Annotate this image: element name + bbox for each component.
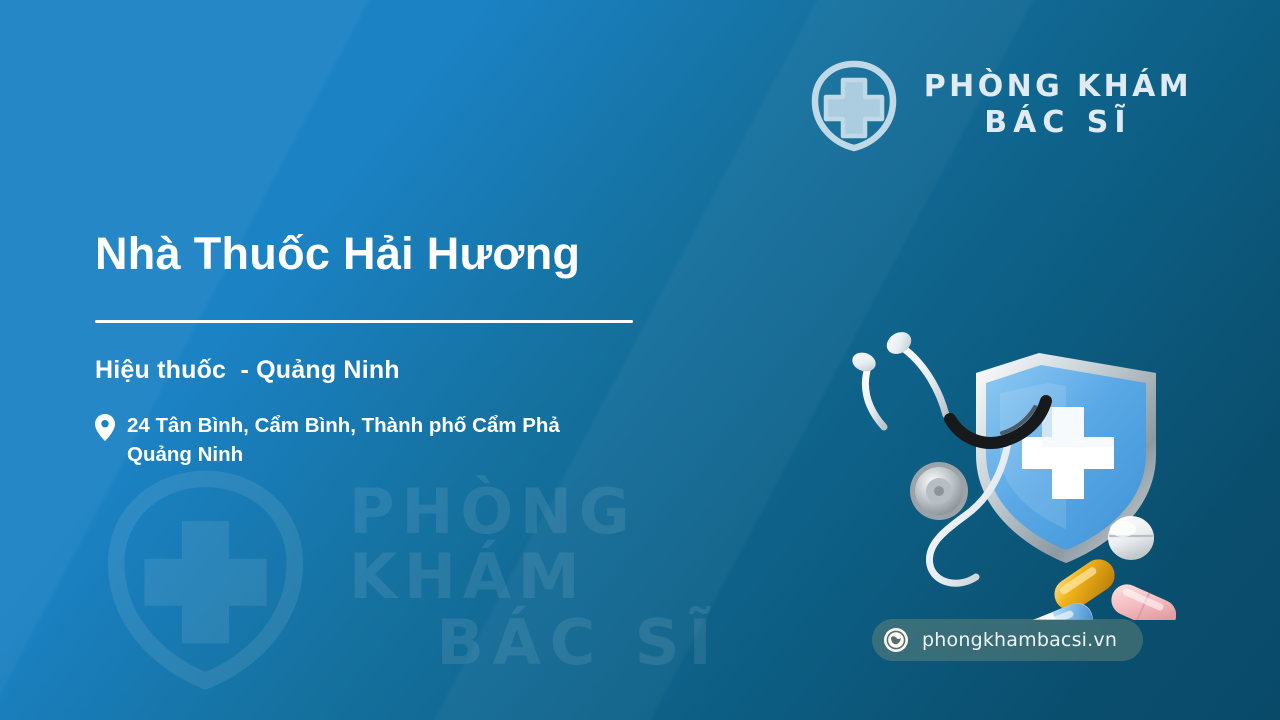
address-text: 24 Tân Bình, Cẩm Bình, Thành phố Cẩm Phả… bbox=[127, 411, 560, 469]
brand-line1: PHÒNG KHÁM bbox=[924, 71, 1192, 103]
medical-shield-stethoscope-pills-illustration bbox=[826, 315, 1176, 620]
location-pin-icon bbox=[95, 414, 115, 441]
pink-capsule bbox=[1106, 579, 1176, 620]
brand-logo: PHÒNG KHÁM BÁC SĨ bbox=[802, 58, 1192, 152]
info-block: Nhà Thuốc Hải Hương Hiệu thuốc - Quảng N… bbox=[95, 228, 815, 469]
divider bbox=[95, 320, 633, 323]
brand-line2: BÁC SĨ bbox=[984, 107, 1131, 139]
medical-cross-shield-icon bbox=[802, 58, 906, 152]
brand-watermark: PHÒNG KHÁM BÁC SĨ bbox=[88, 452, 808, 702]
medical-cross-shield-icon bbox=[88, 460, 323, 695]
watermark-line1: PHÒNG KHÁM bbox=[349, 479, 808, 609]
globe-icon bbox=[883, 627, 909, 653]
subtitle: Hiệu thuốc - Quảng Ninh bbox=[95, 356, 815, 385]
stethoscope-chest-piece bbox=[910, 462, 968, 520]
watermark-line2: BÁC SĨ bbox=[436, 610, 720, 675]
address-row: 24 Tân Bình, Cẩm Bình, Thành phố Cẩm Phả… bbox=[95, 411, 815, 469]
promo-card: PHÒNG KHÁM BÁC SĨ PHÒNG KHÁM BÁC SĨ Nhà … bbox=[0, 0, 1280, 720]
page-title: Nhà Thuốc Hải Hương bbox=[95, 228, 815, 280]
round-tablet bbox=[1108, 516, 1154, 560]
website-url: phongkhambacsi.vn bbox=[922, 629, 1117, 651]
website-badge[interactable]: phongkhambacsi.vn bbox=[872, 619, 1143, 661]
